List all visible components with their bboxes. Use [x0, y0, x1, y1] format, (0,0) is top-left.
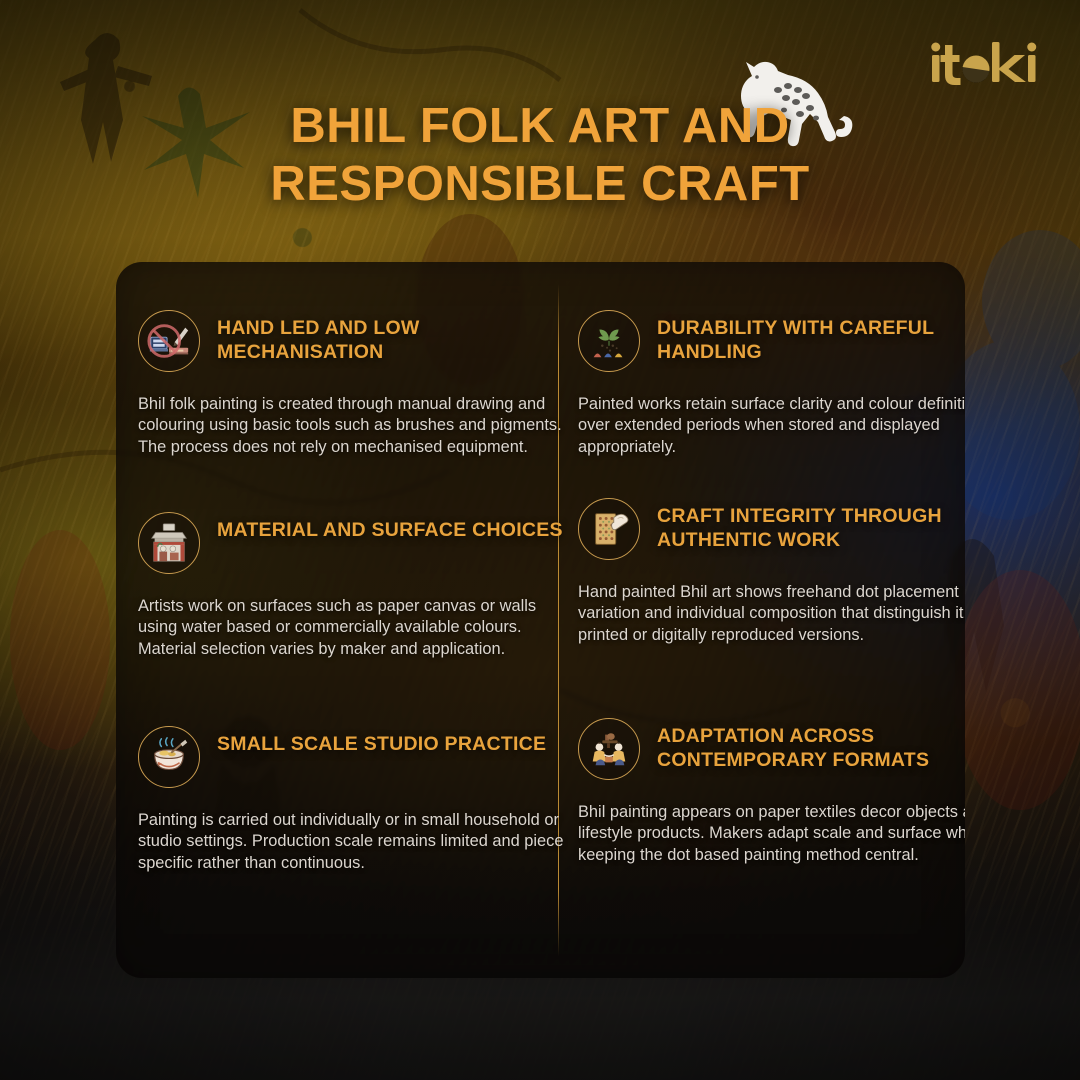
- card-body: Bhil folk painting is created through ma…: [138, 394, 568, 458]
- cooking-pot-icon: [138, 726, 200, 788]
- card-durability-with-careful-handling[interactable]: DURABILITY WITH CAREFUL HANDLING Painted…: [578, 310, 965, 458]
- card-body: Bhil painting appears on paper textiles …: [578, 802, 965, 866]
- workshop-building-icon: [138, 512, 200, 574]
- card-title: ADAPTATION ACROSS CONTEMPORARY FORMATS: [657, 718, 965, 773]
- card-header: DURABILITY WITH CAREFUL HANDLING: [578, 310, 965, 372]
- leaves-pigment-icon: [578, 310, 640, 372]
- card-hand-led-low-mechanisation[interactable]: HAND LED AND LOW MECHANISATION Bhil folk…: [138, 310, 568, 458]
- card-body: Hand painted Bhil art shows freehand dot…: [578, 582, 965, 646]
- content-panel: HAND LED AND LOW MECHANISATION Bhil folk…: [116, 262, 965, 978]
- card-title: DURABILITY WITH CAREFUL HANDLING: [657, 310, 965, 365]
- card-small-scale-studio-practice[interactable]: SMALL SCALE STUDIO PRACTICE Painting is …: [138, 726, 568, 874]
- card-craft-integrity-through-authentic-work[interactable]: CRAFT INTEGRITY THROUGH AUTHENTIC WORK H…: [578, 498, 965, 646]
- page-title: BHIL FOLK ART AND RESPONSIBLE CRAFT: [0, 98, 1080, 214]
- infographic-poster: BHIL FOLK ART AND RESPONSIBLE CRAFT: [0, 0, 1080, 1080]
- card-body: Painting is carried out individually or …: [138, 810, 568, 874]
- no-machine-icon: [138, 310, 200, 372]
- card-title: SMALL SCALE STUDIO PRACTICE: [217, 726, 546, 757]
- card-title: HAND LED AND LOW MECHANISATION: [217, 310, 568, 365]
- card-title: CRAFT INTEGRITY THROUGH AUTHENTIC WORK: [657, 498, 965, 553]
- card-header: SMALL SCALE STUDIO PRACTICE: [138, 726, 568, 788]
- itokri-logo[interactable]: [930, 38, 1042, 88]
- card-body: Artists work on surfaces such as paper c…: [138, 596, 568, 660]
- card-material-and-surface-choices[interactable]: MATERIAL AND SURFACE CHOICES Artists wor…: [138, 512, 568, 660]
- card-header: ADAPTATION ACROSS CONTEMPORARY FORMATS: [578, 718, 965, 780]
- two-artisans-icon: [578, 718, 640, 780]
- card-header: MATERIAL AND SURFACE CHOICES: [138, 512, 568, 574]
- card-header: CRAFT INTEGRITY THROUGH AUTHENTIC WORK: [578, 498, 965, 560]
- hand-holding-fabric-icon: [578, 498, 640, 560]
- card-title: MATERIAL AND SURFACE CHOICES: [217, 512, 563, 543]
- card-header: HAND LED AND LOW MECHANISATION: [138, 310, 568, 372]
- card-adaptation-across-contemporary-formats[interactable]: ADAPTATION ACROSS CONTEMPORARY FORMATS B…: [578, 718, 965, 866]
- card-body: Painted works retain surface clarity and…: [578, 394, 965, 458]
